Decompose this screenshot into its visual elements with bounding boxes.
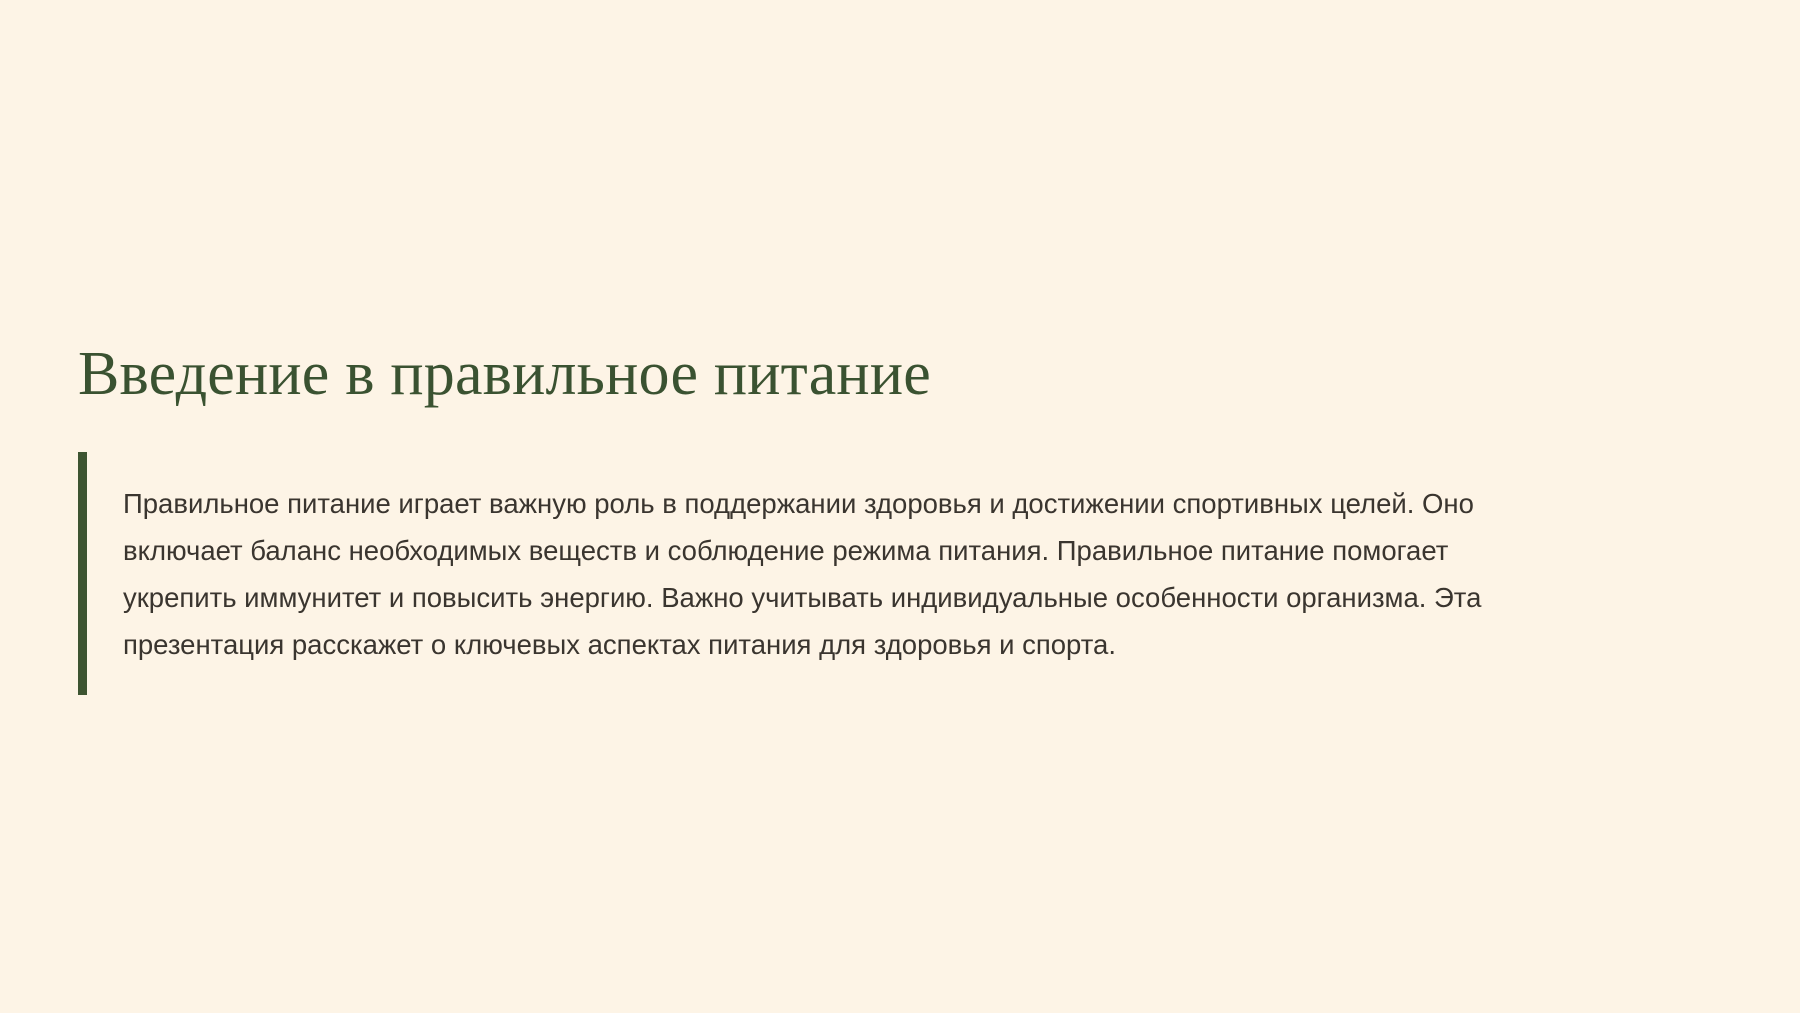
accent-bar: [78, 452, 87, 695]
slide-title: Введение в правильное питание: [78, 340, 1698, 408]
presentation-slide: Введение в правильное питание Правильное…: [0, 0, 1800, 1013]
slide-body-text: Правильное питание играет важную роль в …: [87, 480, 1513, 668]
body-quote-block: Правильное питание играет важную роль в …: [78, 452, 1698, 695]
slide-content: Введение в правильное питание Правильное…: [78, 340, 1698, 695]
